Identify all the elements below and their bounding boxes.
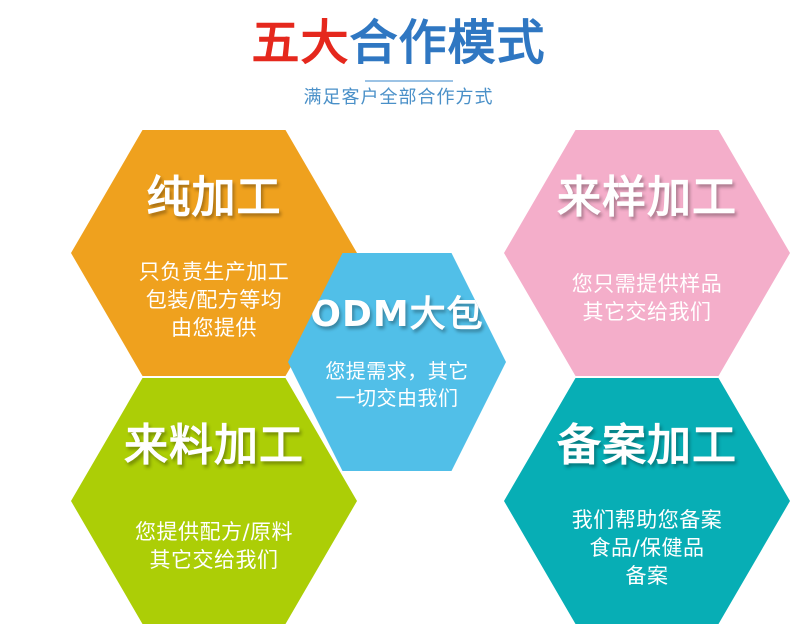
mode-description-line: 您提需求，其它	[288, 358, 506, 385]
mode-description: 您提供配方/原料 其它交给我们	[71, 518, 357, 574]
mode-description-line: 其它交给我们	[71, 546, 357, 574]
mode-description-line: 您只需提供样品	[504, 270, 790, 298]
page-title-suffix: 合作模式	[350, 15, 546, 71]
mode-description-line: 我们帮助您备案	[504, 506, 790, 534]
mode-title: 来样加工	[504, 172, 790, 224]
mode-title: ODM大包	[288, 293, 506, 337]
mode-description-line: 食品/保健品	[504, 534, 790, 562]
page-title: 五大合作模式	[0, 14, 797, 72]
mode-description: 您提需求，其它 一切交由我们	[288, 358, 506, 412]
mode-description-line: 备案	[504, 562, 790, 590]
header: 五大合作模式 满足客户全部合作方式	[0, 0, 797, 120]
mode-title: 来料加工	[71, 420, 357, 472]
mode-title: 纯加工	[71, 172, 357, 224]
mode-card-sample-processing[interactable]: 来样加工 您只需提供样品 其它交给我们	[504, 130, 790, 376]
infographic-canvas: 五大合作模式 满足客户全部合作方式 纯加工 只负责生产加工 包装/配方等均 由您…	[0, 0, 797, 635]
mode-description-line: 您提供配方/原料	[71, 518, 357, 546]
mode-description: 您只需提供样品 其它交给我们	[504, 270, 790, 326]
mode-description-line: 只负责生产加工	[71, 258, 357, 286]
page-subtitle: 满足客户全部合作方式	[0, 86, 797, 110]
mode-card-material-processing[interactable]: 来料加工 您提供配方/原料 其它交给我们	[71, 378, 357, 624]
mode-description-line: 一切交由我们	[288, 385, 506, 412]
mode-card-record-filing-processing[interactable]: 备案加工 我们帮助您备案 食品/保健品 备案	[504, 378, 790, 624]
mode-description: 我们帮助您备案 食品/保健品 备案	[504, 506, 790, 590]
page-title-prefix: 五大	[251, 15, 349, 71]
mode-title: 备案加工	[504, 420, 790, 472]
mode-description-line: 其它交给我们	[504, 298, 790, 326]
title-divider	[365, 80, 453, 82]
